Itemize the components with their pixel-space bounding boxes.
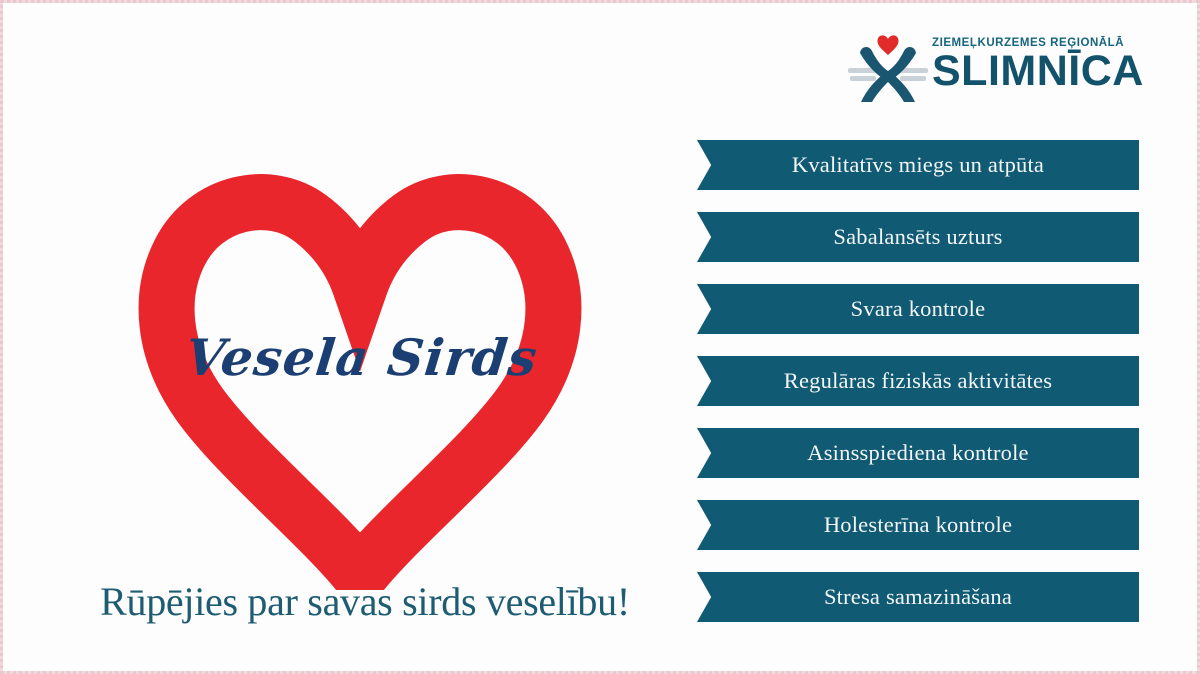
health-tips-list: Kvalitatīvs miegs un atpūta Sabalansēts … — [697, 140, 1139, 622]
ribbon-item-nutrition[interactable]: Sabalansēts uzturs — [697, 212, 1139, 262]
page-tagline: Rūpējies par savas sirds veselību! — [70, 578, 660, 625]
ribbon-label: Asinsspiediena kontrole — [807, 440, 1028, 466]
person-with-heart-icon — [848, 26, 928, 104]
ribbon-item-stress-reduction[interactable]: Stresa samazināšana — [697, 572, 1139, 622]
heart-outline-icon — [120, 100, 600, 590]
ribbon-label: Kvalitatīvs miegs un atpūta — [792, 152, 1044, 178]
ribbon-label: Sabalansēts uzturs — [833, 224, 1002, 250]
hospital-logo: ZIEMEĻKURZEMES REĢIONĀLĀ SLIMNĪCA — [848, 24, 1148, 106]
ribbon-item-blood-pressure[interactable]: Asinsspiediena kontrole — [697, 428, 1139, 478]
ribbon-label: Svara kontrole — [851, 296, 986, 322]
ribbon-label: Regulāras fiziskās aktivitātes — [784, 368, 1052, 394]
heart-graphic: Vesela Sirds — [120, 100, 600, 590]
ribbon-item-cholesterol[interactable]: Holesterīna kontrole — [697, 500, 1139, 550]
ribbon-label: Stresa samazināšana — [824, 584, 1012, 610]
ribbon-item-sleep[interactable]: Kvalitatīvs miegs un atpūta — [697, 140, 1139, 190]
ribbon-item-weight-control[interactable]: Svara kontrole — [697, 284, 1139, 334]
logo-wordmark: ZIEMEĻKURZEMES REĢIONĀLĀ SLIMNĪCA — [932, 38, 1144, 93]
heart-health-poster: ZIEMEĻKURZEMES REĢIONĀLĀ SLIMNĪCA Vesela… — [0, 0, 1200, 674]
logo-title: SLIMNĪCA — [932, 51, 1144, 92]
ribbon-label: Holesterīna kontrole — [824, 512, 1012, 538]
ribbon-item-physical-activity[interactable]: Regulāras fiziskās aktivitātes — [697, 356, 1139, 406]
